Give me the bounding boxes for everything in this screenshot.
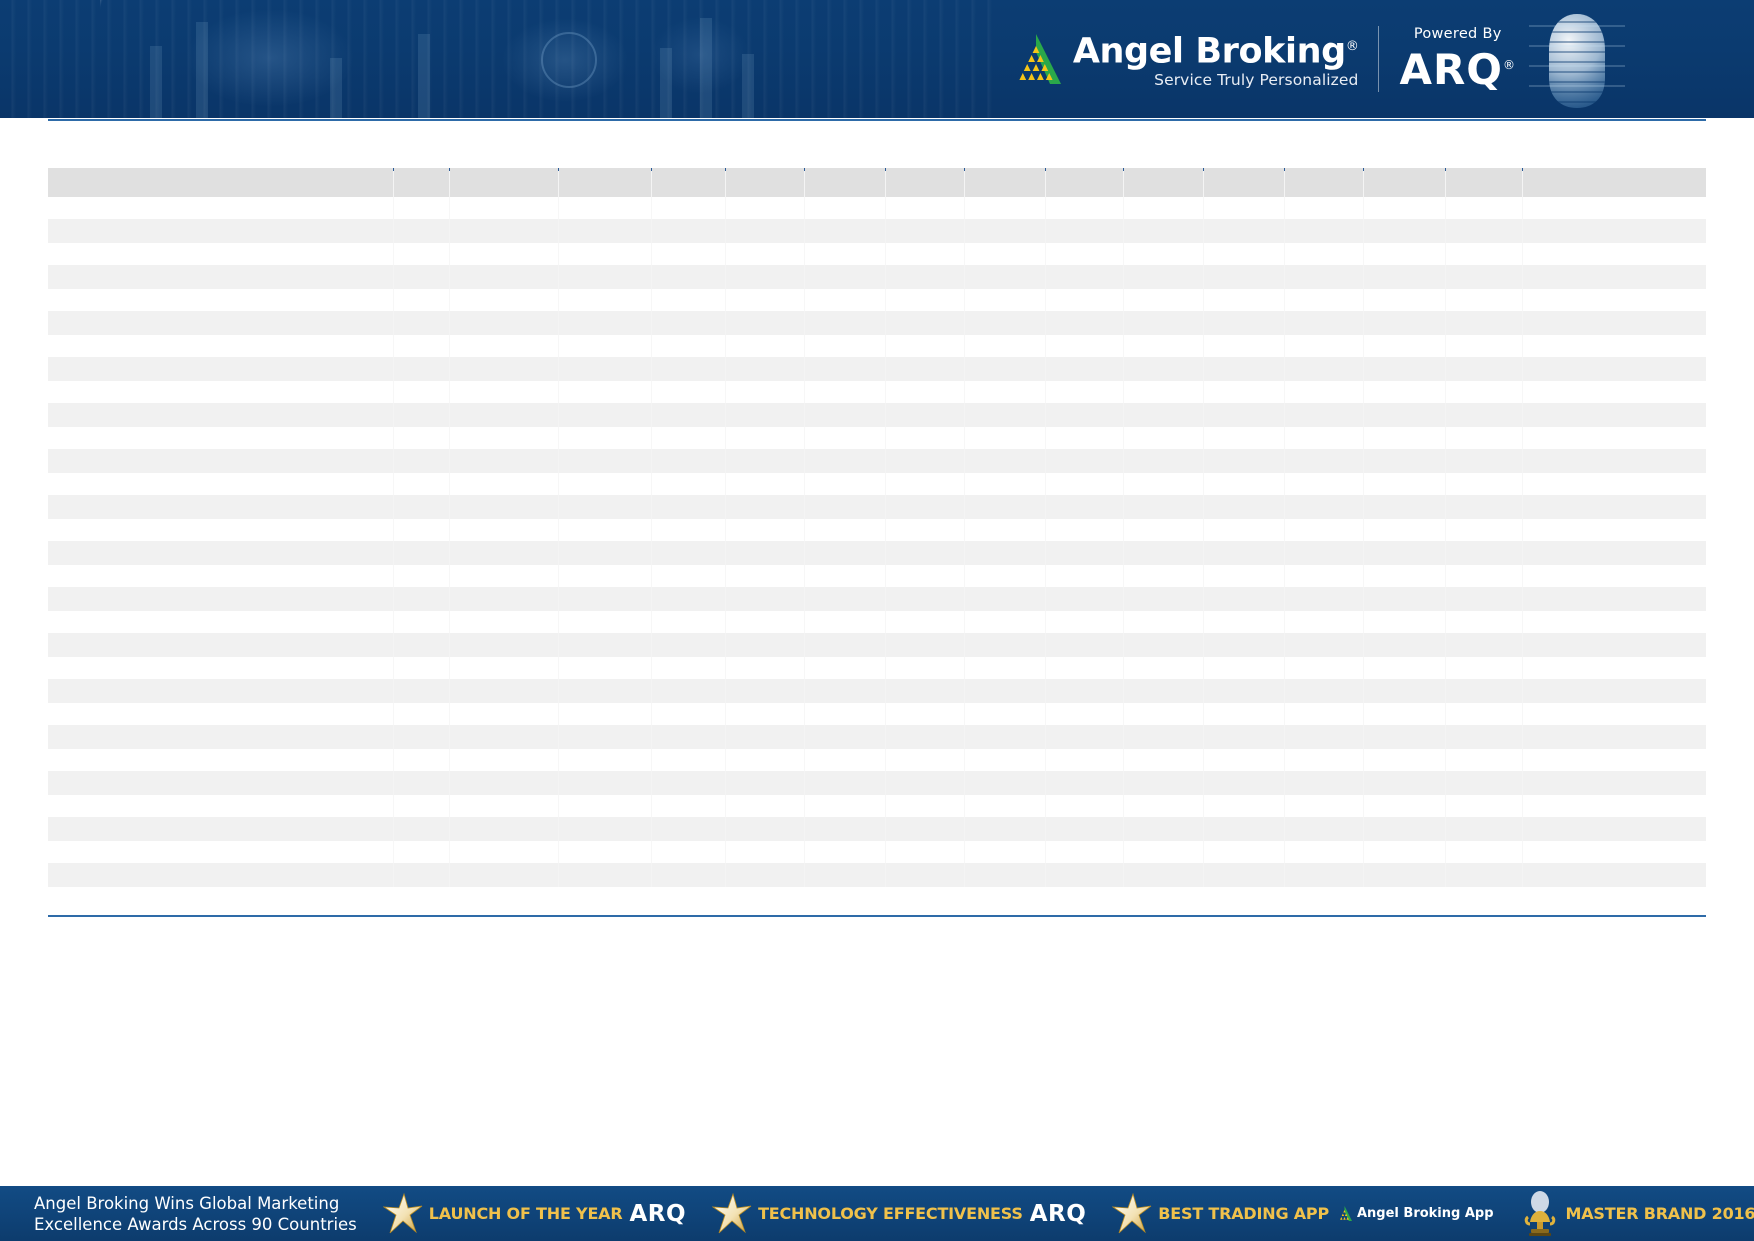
table-cell	[449, 403, 559, 427]
table-cell	[1045, 587, 1124, 611]
table-row[interactable]	[48, 311, 1706, 335]
table-cell	[651, 541, 725, 565]
table-cell	[1445, 197, 1523, 219]
table-cell	[1445, 587, 1523, 611]
table-cell	[1523, 841, 1706, 863]
angel-broking-triangle-icon	[1009, 32, 1063, 86]
table-cell	[1445, 357, 1523, 381]
table-cell	[726, 771, 805, 795]
table-cell	[449, 657, 559, 679]
header-bar-decoration	[196, 22, 208, 118]
arq-logo: ARQ®	[1399, 43, 1516, 92]
table-bottom-rule	[48, 915, 1706, 917]
table-cell	[1523, 749, 1706, 771]
table-cell	[1204, 495, 1285, 519]
table-cell	[964, 357, 1045, 381]
table-cell	[885, 219, 964, 243]
header-bar-decoration	[418, 34, 430, 118]
table-cell	[1285, 495, 1364, 519]
table-cell	[394, 795, 449, 817]
table-cell	[1285, 863, 1364, 887]
table-cell	[1124, 725, 1204, 749]
table-cell	[559, 703, 652, 725]
table-cell	[559, 197, 652, 219]
table-cell	[964, 335, 1045, 357]
table-cell	[651, 565, 725, 587]
table-cell	[885, 495, 964, 519]
table-cell	[651, 427, 725, 449]
table-cell	[559, 311, 652, 335]
table-cell	[449, 381, 559, 403]
table-cell	[1445, 427, 1523, 449]
table-cell	[1523, 449, 1706, 473]
table-cell	[805, 427, 886, 449]
table-cell	[651, 841, 725, 863]
table-header-cell	[394, 168, 449, 197]
table-cell	[651, 795, 725, 817]
table-cell	[726, 289, 805, 311]
table-cell	[805, 449, 886, 473]
table-cell	[1445, 749, 1523, 771]
registered-mark: ®	[1346, 39, 1359, 54]
table-cell	[1204, 427, 1285, 449]
table-cell	[1204, 219, 1285, 243]
table-row[interactable]	[48, 633, 1706, 657]
table-row[interactable]	[48, 771, 1706, 795]
table-cell	[964, 427, 1045, 449]
table-cell	[1285, 265, 1364, 289]
table-cell	[1124, 197, 1204, 219]
table-cell	[1523, 565, 1706, 587]
header-bar-decoration	[700, 18, 712, 118]
award-arq-wordmark: ARQ	[629, 1201, 686, 1227]
table-cell	[805, 243, 886, 265]
table-cell	[1124, 473, 1204, 495]
table-cell	[449, 633, 559, 657]
table-cell	[449, 519, 559, 541]
table-cell	[449, 219, 559, 243]
table-row[interactable]	[48, 403, 1706, 427]
table-cell	[1523, 795, 1706, 817]
table-cell	[1523, 289, 1706, 311]
table-cell	[394, 703, 449, 725]
table-cell	[1445, 565, 1523, 587]
table-cell	[1363, 403, 1445, 427]
table-header-cell	[964, 168, 1045, 197]
table-cell	[1363, 243, 1445, 265]
table-cell	[1285, 817, 1364, 841]
table-cell	[559, 817, 652, 841]
table-cell	[651, 817, 725, 841]
table-cell	[394, 771, 449, 795]
table-header-cell	[559, 168, 652, 197]
table-cell	[1523, 311, 1706, 335]
table-cell	[1363, 725, 1445, 749]
table-cell	[48, 311, 394, 335]
table-cell	[48, 611, 394, 633]
table-row[interactable]	[48, 863, 1706, 887]
table-spacer-row	[48, 703, 1706, 725]
table-cell	[449, 749, 559, 771]
table-spacer-row	[48, 381, 1706, 403]
table-cell	[1124, 587, 1204, 611]
table-cell	[1045, 795, 1124, 817]
table-row[interactable]	[48, 265, 1706, 289]
table-cell	[885, 587, 964, 611]
award-badge: TECHNOLOGY EFFECTIVENESSARQ	[712, 1192, 1086, 1236]
table-cell	[48, 473, 394, 495]
table-cell	[805, 335, 886, 357]
table-cell	[1363, 265, 1445, 289]
table-cell	[394, 403, 449, 427]
table-cell	[1204, 357, 1285, 381]
table-cell	[394, 265, 449, 289]
table-row[interactable]	[48, 495, 1706, 519]
table-cell	[1045, 495, 1124, 519]
table-cell	[449, 335, 559, 357]
table-cell	[805, 357, 886, 381]
table-spacer-row	[48, 427, 1706, 449]
table-cell	[885, 243, 964, 265]
table-cell	[1045, 541, 1124, 565]
table-cell	[48, 357, 394, 381]
table-row[interactable]	[48, 817, 1706, 841]
table-cell	[1045, 633, 1124, 657]
table-cell	[1523, 265, 1706, 289]
table-cell	[651, 611, 725, 633]
table-row[interactable]	[48, 541, 1706, 565]
table-cell	[964, 587, 1045, 611]
table-cell	[726, 725, 805, 749]
table-cell	[1363, 519, 1445, 541]
table-spacer-row	[48, 243, 1706, 265]
table-cell	[1285, 335, 1364, 357]
table-cell	[1204, 817, 1285, 841]
table-cell	[964, 311, 1045, 335]
table-cell	[805, 381, 886, 403]
table-cell	[1204, 541, 1285, 565]
table-cell	[1045, 565, 1124, 587]
table-cell	[1124, 703, 1204, 725]
table-cell	[559, 657, 652, 679]
table-cell	[1204, 403, 1285, 427]
table-row[interactable]	[48, 587, 1706, 611]
table-cell	[651, 519, 725, 541]
table-cell	[1124, 335, 1204, 357]
table-cell	[805, 679, 886, 703]
table-cell	[1285, 449, 1364, 473]
table-cell	[964, 703, 1045, 725]
table-spacer-row	[48, 473, 1706, 495]
table-cell	[449, 771, 559, 795]
table-cell	[805, 703, 886, 725]
table-cell	[48, 381, 394, 403]
table-cell	[1445, 725, 1523, 749]
table-cell	[1204, 243, 1285, 265]
table-cell	[1285, 587, 1364, 611]
table-cell	[1285, 703, 1364, 725]
table-cell	[1124, 219, 1204, 243]
table-cell	[1285, 219, 1364, 243]
table-cell	[1523, 427, 1706, 449]
table-cell	[1523, 541, 1706, 565]
table-cell	[48, 403, 394, 427]
table-cell	[394, 381, 449, 403]
table-cell	[805, 311, 886, 335]
table-cell	[964, 565, 1045, 587]
table-cell	[726, 243, 805, 265]
table-cell	[1204, 265, 1285, 289]
table-cell	[48, 749, 394, 771]
table-cell	[726, 335, 805, 357]
table-header-cell	[885, 168, 964, 197]
table-cell	[48, 703, 394, 725]
footer-headline-line1: Angel Broking Wins Global Marketing	[34, 1193, 357, 1214]
report-page: Angel Broking® Service Truly Personalize…	[0, 0, 1754, 1241]
table-cell	[1285, 565, 1364, 587]
table-cell	[964, 265, 1045, 289]
table-cell	[1124, 311, 1204, 335]
table-cell	[885, 335, 964, 357]
table-cell	[1045, 403, 1124, 427]
award-brand-text: Angel Broking App	[1357, 1206, 1494, 1221]
table-cell	[1285, 519, 1364, 541]
table-cell	[805, 841, 886, 863]
table-cell	[1363, 541, 1445, 565]
table-cell	[726, 311, 805, 335]
table-cell	[885, 749, 964, 771]
header-ring-decoration	[541, 32, 597, 88]
table-cell	[885, 679, 964, 703]
brand-lockup: Angel Broking® Service Truly Personalize…	[1009, 20, 1516, 98]
table-cell	[48, 289, 394, 311]
table-cell	[394, 219, 449, 243]
table-cell	[394, 427, 449, 449]
table-cell	[1363, 587, 1445, 611]
arq-orb-icon	[1525, 6, 1629, 114]
table-header-cell	[651, 168, 725, 197]
table-cell	[394, 817, 449, 841]
table-spacer-row	[48, 519, 1706, 541]
table-cell	[559, 841, 652, 863]
table-cell	[885, 541, 964, 565]
table-cell	[1363, 449, 1445, 473]
table-cell	[651, 289, 725, 311]
table-cell	[48, 265, 394, 289]
table-cell	[1363, 795, 1445, 817]
table-cell	[1445, 219, 1523, 243]
table-cell	[1204, 449, 1285, 473]
table-cell	[1523, 611, 1706, 633]
angel-broking-wordmark: Angel Broking® Service Truly Personalize…	[1073, 28, 1359, 90]
table-cell	[1523, 633, 1706, 657]
table-cell	[1445, 311, 1523, 335]
table-cell	[885, 795, 964, 817]
table-cell	[1204, 381, 1285, 403]
table-cell	[48, 565, 394, 587]
table-cell	[1204, 473, 1285, 495]
table-cell	[651, 473, 725, 495]
table-cell	[1124, 633, 1204, 657]
table-cell	[651, 863, 725, 887]
table-cell	[885, 725, 964, 749]
table-cell	[1285, 657, 1364, 679]
table-cell	[1445, 679, 1523, 703]
table-cell	[1045, 335, 1124, 357]
table-cell	[1363, 679, 1445, 703]
table-cell	[559, 519, 652, 541]
table-cell	[805, 633, 886, 657]
table-cell	[1285, 289, 1364, 311]
table-cell	[1045, 449, 1124, 473]
table-cell	[1363, 495, 1445, 519]
table-cell	[1363, 565, 1445, 587]
table-cell	[1285, 473, 1364, 495]
table-cell	[1363, 335, 1445, 357]
table-cell	[651, 587, 725, 611]
table-cell	[726, 749, 805, 771]
award-star-icon	[383, 1192, 423, 1236]
table-cell	[1445, 795, 1523, 817]
table-cell	[805, 725, 886, 749]
table-cell	[1204, 795, 1285, 817]
table-cell	[1445, 265, 1523, 289]
table-cell	[1124, 817, 1204, 841]
table-cell	[805, 473, 886, 495]
table-row[interactable]	[48, 449, 1706, 473]
table-spacer-row	[48, 841, 1706, 863]
table-cell	[964, 519, 1045, 541]
table-row[interactable]	[48, 725, 1706, 749]
table-cell	[964, 495, 1045, 519]
table-cell	[726, 427, 805, 449]
table-cell	[1363, 197, 1445, 219]
awards-footer-banner: Angel Broking Wins Global Marketing Exce…	[0, 1186, 1754, 1241]
table-cell	[726, 473, 805, 495]
table-cell	[48, 519, 394, 541]
table-cell	[1045, 771, 1124, 795]
table-cell	[1045, 265, 1124, 289]
table-cell	[559, 265, 652, 289]
table-cell	[964, 541, 1045, 565]
award-badge: BEST TRADING APPAngel Broking App	[1112, 1192, 1493, 1236]
table-cell	[394, 243, 449, 265]
table-row[interactable]	[48, 219, 1706, 243]
table-cell	[964, 817, 1045, 841]
table-cell	[559, 795, 652, 817]
table-cell	[1523, 357, 1706, 381]
table-cell	[651, 679, 725, 703]
table-cell	[1363, 357, 1445, 381]
table-cell	[1445, 335, 1523, 357]
table-cell	[1285, 611, 1364, 633]
table-cell	[885, 265, 964, 289]
table-cell	[559, 541, 652, 565]
table-cell	[651, 311, 725, 335]
award-trophy-icon	[1520, 1191, 1560, 1237]
table-cell	[885, 473, 964, 495]
table-cell	[1523, 219, 1706, 243]
table-cell	[1204, 633, 1285, 657]
table-cell	[449, 679, 559, 703]
brand-tagline: Service Truly Personalized	[1073, 71, 1359, 90]
table-cell	[885, 289, 964, 311]
brand-divider	[1378, 26, 1379, 92]
table-cell	[449, 565, 559, 587]
table-cell	[1285, 197, 1364, 219]
table-row[interactable]	[48, 679, 1706, 703]
table-cell	[1045, 381, 1124, 403]
table-cell	[964, 749, 1045, 771]
table-cell	[651, 403, 725, 427]
table-cell	[559, 495, 652, 519]
table-cell	[1445, 657, 1523, 679]
table-header-cell	[1445, 168, 1523, 197]
table-row[interactable]	[48, 357, 1706, 381]
award-label: LAUNCH OF THE YEAR	[429, 1204, 623, 1223]
registered-mark: ®	[1503, 58, 1516, 72]
table-cell	[1124, 289, 1204, 311]
table-cell	[1523, 679, 1706, 703]
table-cell	[1124, 841, 1204, 863]
table-cell	[885, 427, 964, 449]
table-cell	[1523, 771, 1706, 795]
award-label: BEST TRADING APP	[1158, 1204, 1329, 1223]
table-cell	[885, 565, 964, 587]
table-cell	[1445, 703, 1523, 725]
table-cell	[1445, 519, 1523, 541]
table-cell	[1204, 657, 1285, 679]
table-cell	[1363, 219, 1445, 243]
table-cell	[1523, 519, 1706, 541]
table-cell	[726, 657, 805, 679]
table-cell	[1204, 863, 1285, 887]
table-cell	[48, 725, 394, 749]
table-cell	[48, 679, 394, 703]
table-cell	[48, 841, 394, 863]
table-cell	[964, 381, 1045, 403]
table-cell	[726, 795, 805, 817]
table-cell	[726, 495, 805, 519]
table-cell	[48, 587, 394, 611]
table-header-cell	[1523, 168, 1706, 197]
table-cell	[1445, 403, 1523, 427]
table-header-cell	[1204, 168, 1285, 197]
table-cell	[1045, 749, 1124, 771]
table-cell	[559, 679, 652, 703]
table-cell	[885, 403, 964, 427]
table-cell	[651, 495, 725, 519]
header-streak-decoration	[100, 0, 920, 118]
table-cell	[726, 817, 805, 841]
table-cell	[1285, 749, 1364, 771]
table-header-cell	[48, 168, 394, 197]
table-cell	[651, 243, 725, 265]
table-cell	[48, 219, 394, 243]
table-spacer-row	[48, 197, 1706, 219]
table-cell	[1445, 771, 1523, 795]
award-arq-wordmark: ARQ	[1030, 1201, 1087, 1227]
table-cell	[805, 863, 886, 887]
table-cell	[1124, 357, 1204, 381]
table-cell	[1523, 587, 1706, 611]
table-cell	[559, 357, 652, 381]
table-cell	[48, 817, 394, 841]
table-cell	[1204, 335, 1285, 357]
table-cell	[559, 403, 652, 427]
table-cell	[1124, 265, 1204, 289]
content-top-rule	[48, 119, 1706, 121]
